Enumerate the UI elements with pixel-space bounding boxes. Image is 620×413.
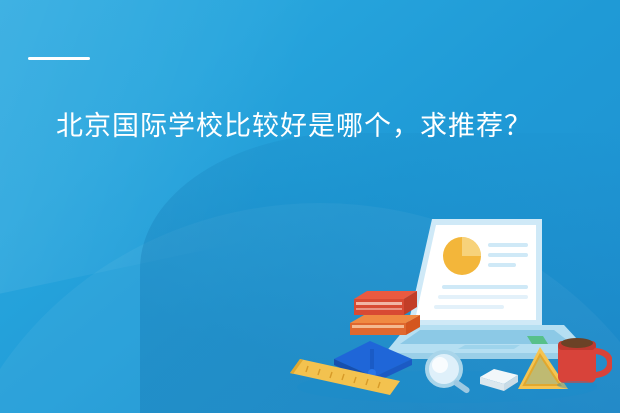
coffee-mug-illustration <box>557 338 610 389</box>
page-title: 北京国际学校比较好是哪个，求推荐？ <box>56 100 556 153</box>
laptop-illustration <box>385 218 590 359</box>
desk-study-illustration <box>272 173 612 413</box>
accent-rule <box>28 57 90 60</box>
promo-banner: 北京国际学校比较好是哪个，求推荐？ <box>0 0 620 413</box>
